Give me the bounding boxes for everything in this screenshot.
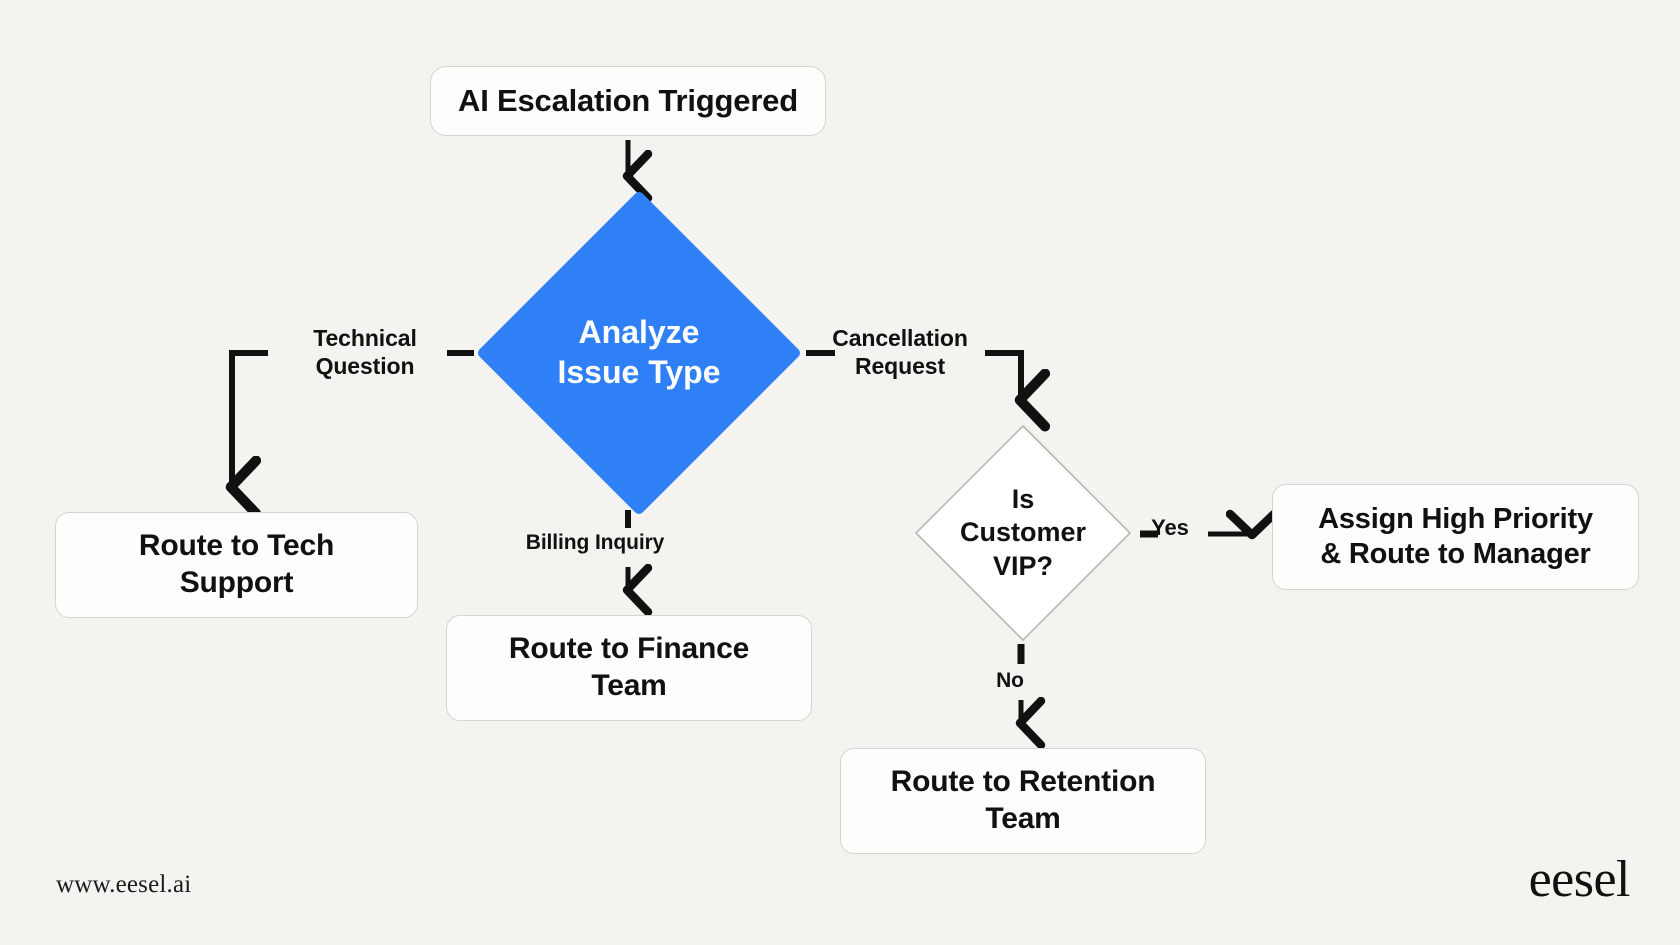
edge-label-cancellation-request: Cancellation Request bbox=[800, 325, 1000, 380]
node-assign-high-priority[interactable]: Assign High Priority & Route to Manager bbox=[1272, 484, 1639, 590]
node-route-to-finance-team[interactable]: Route to Finance Team bbox=[446, 615, 812, 721]
node-route-to-tech-support[interactable]: Route to Tech Support bbox=[55, 512, 418, 618]
flowchart-canvas: AI Escalation Triggered Analyze Issue Ty… bbox=[0, 0, 1680, 945]
edge-label-technical-question: Technical Question bbox=[270, 325, 460, 380]
node-label-line1: Route to Retention bbox=[891, 764, 1156, 801]
node-label-line1: Route to Tech bbox=[139, 528, 334, 565]
diamond-shape-white bbox=[910, 420, 1136, 646]
node-label: Assign High Priority & Route to Manager bbox=[1318, 502, 1593, 573]
edge-label-line1: Cancellation bbox=[800, 325, 1000, 353]
edge-label-billing-inquiry: Billing Inquiry bbox=[490, 530, 700, 555]
node-label: AI Escalation Triggered bbox=[458, 82, 798, 120]
node-label: Route to Retention Team bbox=[891, 764, 1156, 837]
node-ai-escalation-triggered[interactable]: AI Escalation Triggered bbox=[430, 66, 826, 136]
node-label-line1: Assign High Priority bbox=[1318, 502, 1593, 537]
node-analyze-issue-type[interactable]: Analyze Issue Type bbox=[478, 192, 800, 514]
edge-label-line1: Technical bbox=[270, 325, 460, 353]
node-label-line2: Team bbox=[891, 801, 1156, 838]
edge-label-no: No bbox=[985, 668, 1035, 693]
diamond-shape-blue bbox=[478, 192, 800, 514]
node-label: Route to Finance Team bbox=[509, 631, 749, 704]
node-is-customer-vip[interactable]: Is Customer VIP? bbox=[910, 420, 1136, 646]
edge-analyze-to-tech bbox=[232, 353, 268, 487]
edge-label-line2: Request bbox=[800, 353, 1000, 381]
eesel-logo: eesel bbox=[1529, 854, 1630, 906]
node-label-line1: Route to Finance bbox=[509, 631, 749, 668]
edge-label-yes: Yes bbox=[1136, 515, 1204, 541]
node-label-line2: Team bbox=[509, 668, 749, 705]
node-label-line2: & Route to Manager bbox=[1318, 537, 1593, 572]
node-label: Route to Tech Support bbox=[139, 528, 334, 601]
node-route-to-retention-team[interactable]: Route to Retention Team bbox=[840, 748, 1206, 854]
edge-label-line2: Question bbox=[270, 353, 460, 381]
node-label-line2: Support bbox=[139, 565, 334, 602]
footer-website-url[interactable]: www.eesel.ai bbox=[56, 871, 191, 899]
